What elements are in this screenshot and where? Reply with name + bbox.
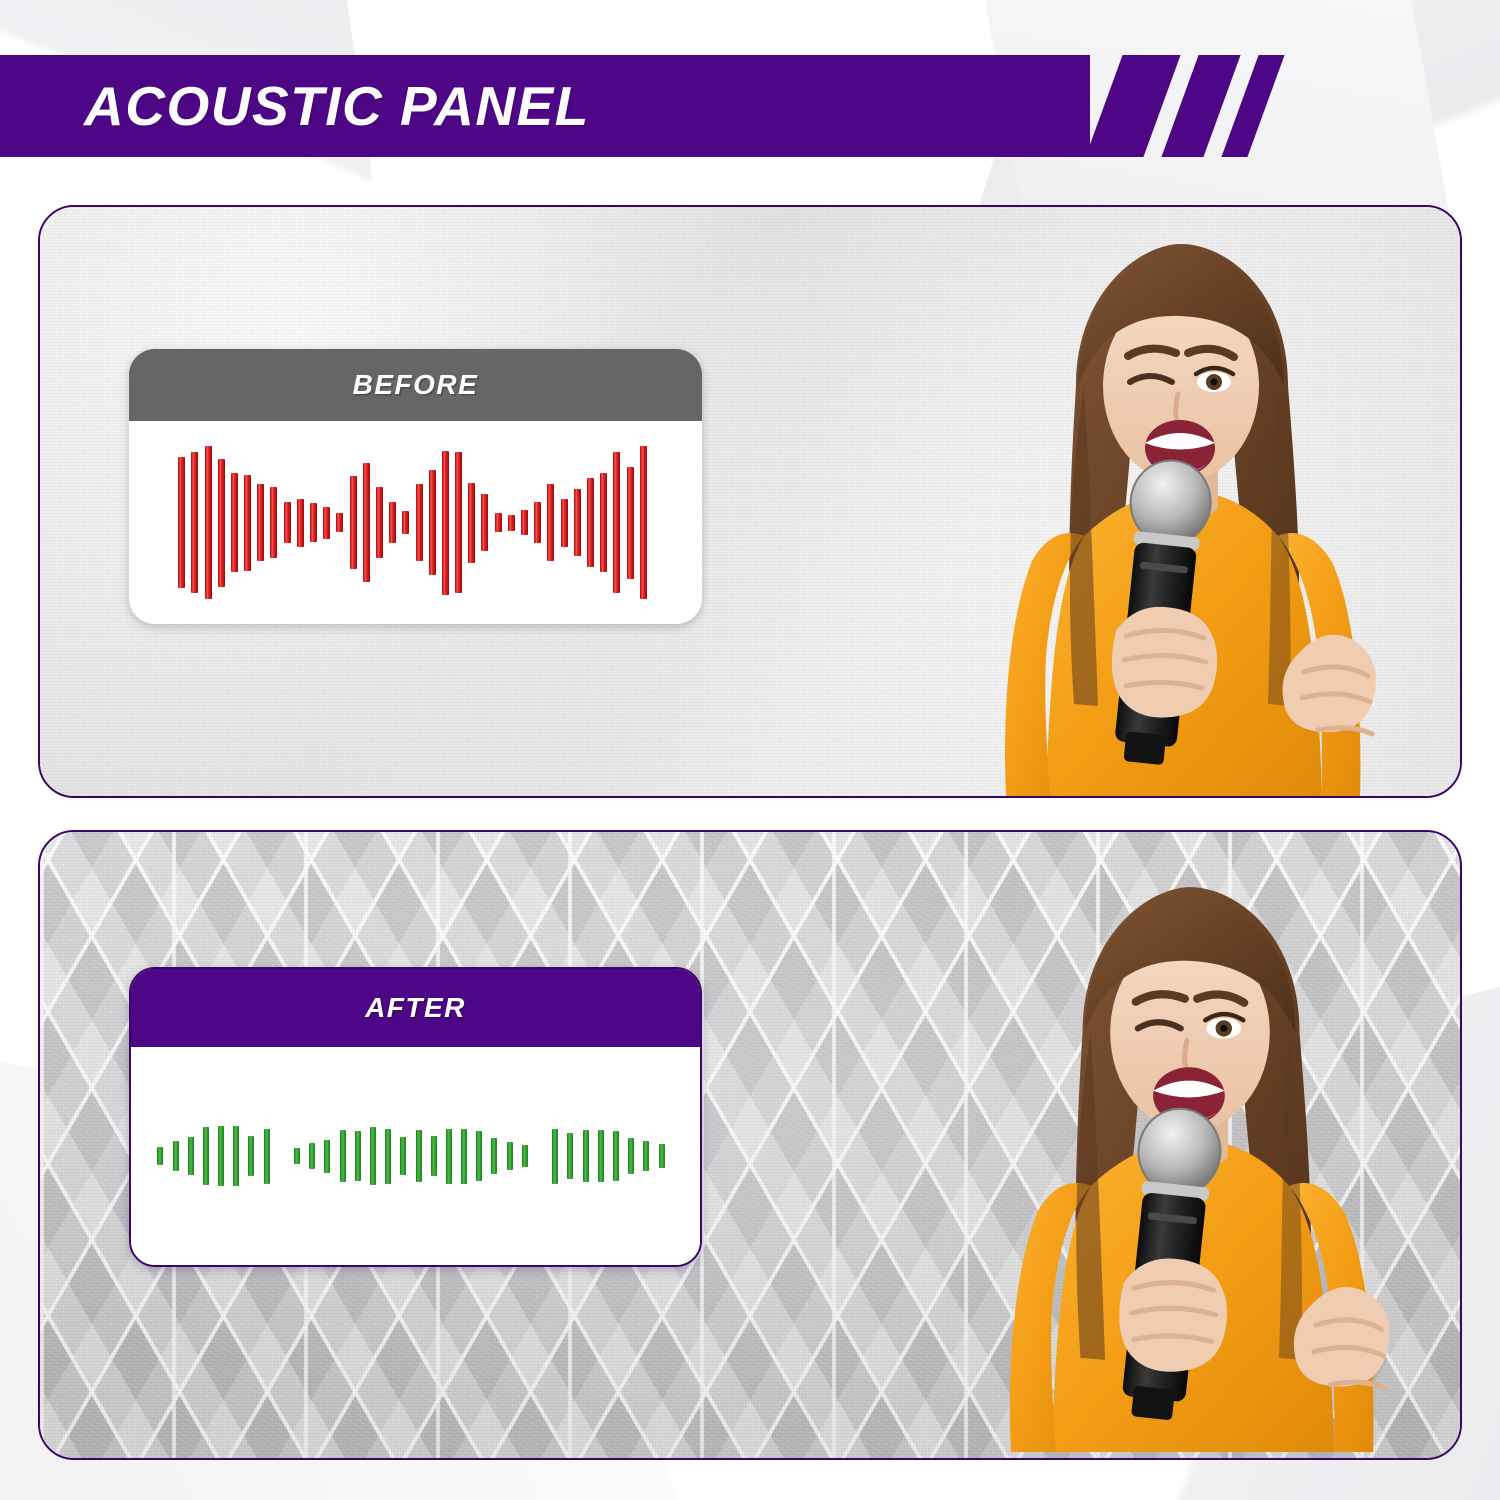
waveform-card-before: BEFORE: [129, 349, 702, 624]
waveform-bar: [476, 1131, 482, 1182]
waveform-bar: [416, 484, 423, 561]
waveform-bar: [231, 473, 238, 572]
waveform-bar: [429, 470, 436, 576]
waveform-bar: [587, 478, 594, 568]
waveform-bar: [640, 446, 647, 600]
waveform-bar: [309, 1143, 315, 1169]
waveform-bar: [340, 1130, 346, 1183]
waveform-bar: [370, 1127, 376, 1184]
waveform-bar: [628, 1138, 634, 1173]
waveform-bar: [257, 484, 264, 561]
waveform-bar: [376, 487, 383, 557]
card-header-before: BEFORE: [129, 349, 702, 421]
waveform-bar: [521, 510, 528, 536]
waveform-bar: [203, 1127, 209, 1184]
waveform-bar: [446, 1129, 452, 1184]
waveform-bar: [244, 475, 251, 571]
waveform-bar: [402, 511, 409, 533]
waveform-bar: [336, 513, 343, 532]
waveform-bar: [583, 1130, 589, 1183]
waveform-bar: [264, 1129, 270, 1184]
waveform-bar: [416, 1130, 422, 1183]
singer-photo-after: [970, 873, 1410, 1458]
waveform-bar: [600, 473, 607, 572]
waveform-bar: [613, 452, 620, 593]
card-label-after: AFTER: [365, 992, 466, 1024]
waveform-bar: [270, 487, 277, 557]
waveform-bar: [188, 1137, 194, 1174]
waveform-bar: [431, 1136, 437, 1176]
waveform-bar: [324, 1140, 330, 1173]
waveform-bar: [248, 1136, 254, 1176]
waveform-bar: [598, 1130, 604, 1183]
waveform-bar: [400, 1137, 406, 1174]
waveform-bar: [468, 483, 475, 563]
waveform-bar: [547, 484, 554, 561]
comparison-panel-before: BEFORE: [38, 205, 1462, 798]
card-body-after: [131, 1047, 700, 1265]
waveform-bar: [389, 502, 396, 544]
waveform-bar: [178, 457, 185, 588]
waveform-bar: [218, 459, 225, 587]
card-body-before: [129, 421, 702, 624]
waveform-bar: [157, 1147, 163, 1165]
waveform-icon: [178, 421, 653, 624]
waveform-bar: [233, 1126, 239, 1185]
waveform-bar: [495, 513, 502, 532]
waveform-bar: [481, 494, 488, 552]
waveform-bar: [205, 446, 212, 600]
waveform-bar: [218, 1126, 224, 1185]
waveform-bar: [173, 1141, 179, 1172]
singer-photo-before: [966, 236, 1396, 796]
waveform-bar: [363, 463, 370, 581]
waveform-bar: [507, 1142, 513, 1171]
waveform-bar: [659, 1144, 665, 1168]
comparison-panel-after: AFTER: [38, 830, 1462, 1460]
card-header-after: AFTER: [131, 969, 700, 1047]
waveform-bar: [191, 452, 198, 593]
waveform-bar: [350, 476, 357, 569]
waveform-bar: [522, 1145, 528, 1167]
waveform-bar: [297, 499, 304, 547]
waveform-bar: [574, 489, 581, 556]
waveform-bar: [294, 1148, 300, 1163]
waveform-bar: [643, 1141, 649, 1172]
waveform-bar: [534, 502, 541, 544]
waveform-bar: [461, 1129, 467, 1184]
waveform-icon: [157, 1047, 673, 1265]
waveform-bar: [561, 499, 568, 547]
waveform-bar: [567, 1133, 573, 1179]
waveform-bar: [508, 515, 515, 531]
waveform-card-after: AFTER: [129, 967, 702, 1267]
waveform-bar: [627, 467, 634, 579]
page-title: ACOUSTIC PANEL: [84, 74, 590, 138]
header-banner: ACOUSTIC PANEL: [0, 55, 1090, 157]
waveform-bar: [355, 1131, 361, 1182]
page-root: ACOUSTIC PANEL BEFORE: [0, 0, 1500, 1500]
waveform-bar: [385, 1129, 391, 1184]
waveform-bar: [613, 1131, 619, 1182]
waveform-bar: [552, 1129, 558, 1184]
waveform-bar: [284, 502, 291, 544]
card-label-before: BEFORE: [353, 369, 479, 401]
waveform-bar: [455, 452, 462, 593]
waveform-bar: [442, 451, 449, 595]
waveform-bar: [310, 503, 317, 541]
waveform-bar: [323, 507, 330, 539]
waveform-bar: [491, 1138, 497, 1173]
